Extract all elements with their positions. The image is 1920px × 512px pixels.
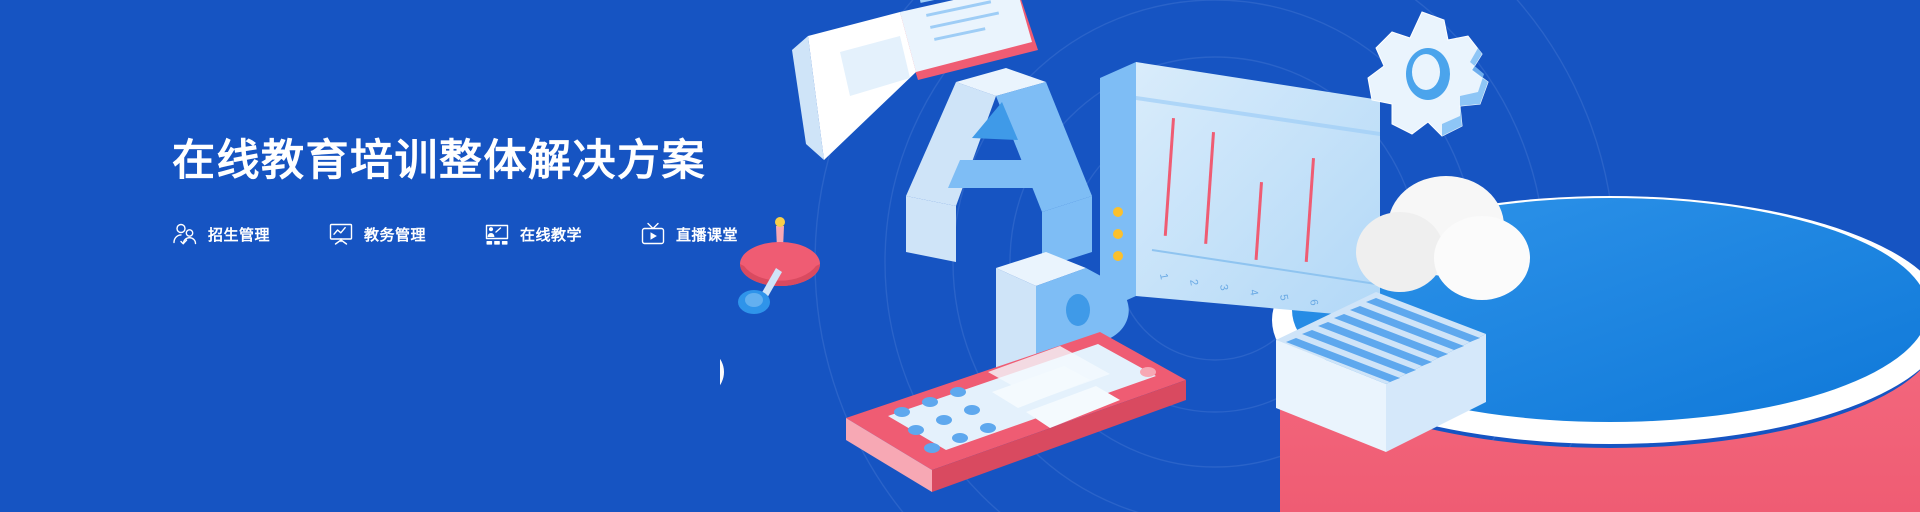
- feature-item-admissions[interactable]: 招生管理: [172, 221, 270, 247]
- banner-copy: 在线教育培训整体解决方案 招生管理: [172, 140, 872, 247]
- online-teaching-whiteboard-icon: [484, 221, 510, 247]
- feature-label: 教务管理: [364, 224, 426, 245]
- gear-3d: [1368, 12, 1488, 136]
- academic-chart-board-icon: [328, 221, 354, 247]
- education-banner: 1 2 3 4 5 6: [0, 0, 1920, 512]
- page-title: 在线教育培训整体解决方案: [172, 140, 872, 183]
- feature-item-live-class[interactable]: 直播课堂: [640, 221, 738, 247]
- feature-list: 招生管理 教务管理: [172, 221, 872, 247]
- feature-label: 直播课堂: [676, 224, 738, 245]
- cloud-small: [720, 314, 724, 400]
- feature-item-academic[interactable]: 教务管理: [328, 221, 426, 247]
- live-class-video-icon: [640, 221, 666, 247]
- online-education-isometric-illustration: 1 2 3 4 5 6: [720, 0, 1920, 512]
- feature-label: 在线教学: [520, 224, 582, 245]
- letter-a-3d: [906, 68, 1092, 268]
- admissions-person-icon: [172, 221, 198, 247]
- cloud-large: [1356, 176, 1530, 300]
- feature-item-online-teaching[interactable]: 在线教学: [484, 221, 582, 247]
- monitor-chart-screen: 1 2 3 4 5 6: [1100, 62, 1380, 318]
- feature-label: 招生管理: [208, 224, 270, 245]
